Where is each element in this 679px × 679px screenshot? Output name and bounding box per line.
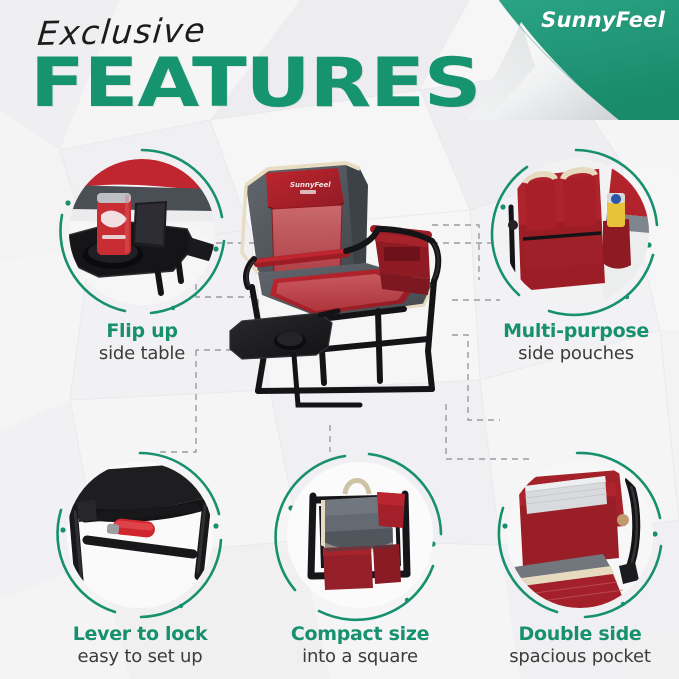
callout-photo-double-side-spacious-pocket — [507, 462, 653, 608]
feature-callout-compact-size[interactable]: Compact size into a square — [280, 455, 440, 615]
title-main-line: FEATURES — [30, 55, 480, 113]
feature-callout-lever-to-lock[interactable]: Lever to lock easy to set up — [60, 455, 220, 615]
feature-subtitle: easy to set up — [73, 646, 208, 667]
feature-caption-multi-purpose-side-pouches: Multi-purpose side pouches — [503, 320, 649, 364]
feature-caption-compact-size: Compact size into a square — [291, 623, 429, 667]
product-logo-text: SunnyFeel — [290, 181, 331, 189]
callout-photo-flip-up-side-table — [69, 159, 215, 305]
feature-subtitle: into a square — [291, 646, 429, 667]
callout-photo-lever-to-lock — [67, 462, 213, 608]
feature-title: Lever to lock — [73, 623, 208, 645]
product-image-chair: SunnyFeel — [228, 155, 453, 420]
feature-title: Flip up — [99, 320, 185, 342]
infographic-canvas: Exclusive FEATURES — [0, 0, 679, 679]
feature-callout-double-side-spacious-pocket[interactable]: Double side spacious pocket — [500, 455, 660, 615]
feature-caption-double-side-spacious-pocket: Double side spacious pocket — [509, 623, 651, 667]
feature-callout-multi-purpose-side-pouches[interactable]: Multi-purpose side pouches — [496, 152, 656, 312]
feature-caption-flip-up-side-table: Flip up side table — [99, 320, 185, 364]
brand-logo: SunnyFeel — [541, 8, 665, 32]
feature-subtitle: side pouches — [503, 343, 649, 364]
feature-title: Compact size — [291, 623, 429, 645]
callout-photo-compact-size — [287, 462, 433, 608]
feature-title: Multi-purpose — [503, 320, 649, 342]
feature-callout-flip-up-side-table[interactable]: Flip up side table — [62, 152, 222, 312]
feature-subtitle: side table — [99, 343, 185, 364]
page-title: Exclusive FEATURES — [30, 14, 412, 113]
feature-caption-lever-to-lock: Lever to lock easy to set up — [73, 623, 208, 667]
feature-subtitle: spacious pocket — [509, 646, 651, 667]
callout-photo-multi-purpose-side-pouches — [503, 159, 649, 305]
feature-title: Double side — [509, 623, 651, 645]
